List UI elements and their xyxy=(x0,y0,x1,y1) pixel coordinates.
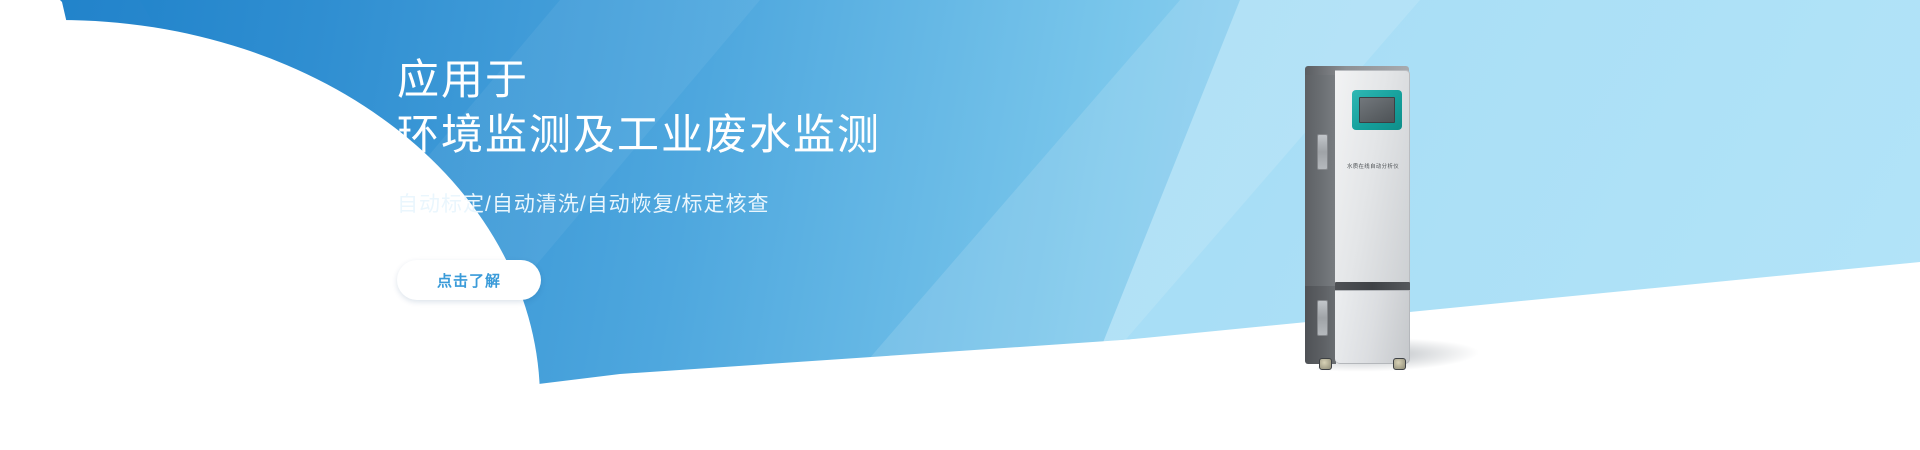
cabinet-lower-handle xyxy=(1317,300,1328,336)
cabinet-lower-door xyxy=(1335,290,1410,364)
cabinet-upper-handle xyxy=(1317,134,1328,170)
display-bezel xyxy=(1352,90,1402,130)
product-label-text: 水质在线自动分析仪 xyxy=(1339,162,1407,170)
headline-line-1: 应用于 xyxy=(397,56,529,103)
banner-subtitle: 自动标定/自动清洗/自动恢复/标定核查 xyxy=(397,188,1157,218)
promo-banner: 应用于 环境监测及工业废水监测 自动标定/自动清洗/自动恢复/标定核查 点击了解… xyxy=(0,0,1920,450)
learn-more-button[interactable]: 点击了解 xyxy=(397,260,541,300)
banner-copy: 应用于 环境监测及工业废水监测 自动标定/自动清洗/自动恢复/标定核查 点击了解 xyxy=(397,52,1157,300)
caster-wheel-left xyxy=(1319,358,1332,370)
caster-wheel-right xyxy=(1393,358,1406,370)
product-image-water-analyzer: 水质在线自动分析仪 xyxy=(1305,62,1445,367)
display-screen xyxy=(1359,97,1395,123)
headline-line-2: 环境监测及工业废水监测 xyxy=(397,107,1157,162)
banner-headline: 应用于 环境监测及工业废水监测 xyxy=(397,52,1157,162)
